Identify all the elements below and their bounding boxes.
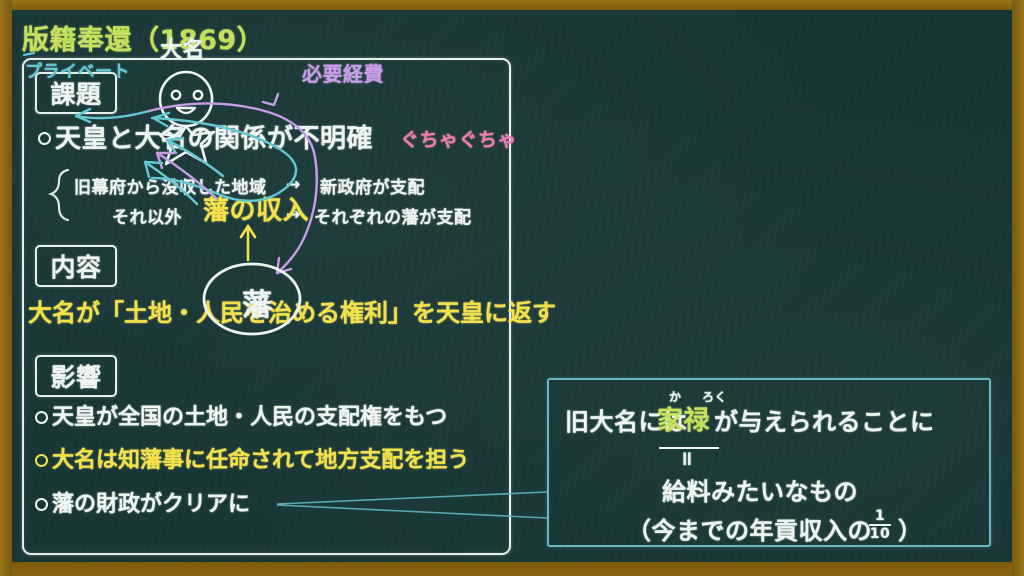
note-line3-open: （今までの年貢収入の [627,511,872,546]
frame-right-bar [1012,0,1024,576]
screenshot-root: 版籍奉還（1869） 課題 天皇と大名の関係が不明確 旧幕府から没収した地域 →… [0,0,1024,576]
frame-top-bar [0,0,1024,10]
note-fraction: 1 10 [867,509,893,542]
note-underline [12,10,1012,562]
frame-bottom-bar [0,562,1024,576]
fraction-denominator: 10 [867,527,893,542]
frame-left-bar [0,0,12,576]
note-line2: 給料みたいなもの [662,472,858,507]
chalkboard: 版籍奉還（1869） 課題 天皇と大名の関係が不明確 旧幕府から没収した地域 →… [12,10,1012,562]
note-equals-sign: = [676,450,700,467]
note-line3-close: ） [898,511,923,546]
fraction-numerator: 1 [867,509,893,523]
